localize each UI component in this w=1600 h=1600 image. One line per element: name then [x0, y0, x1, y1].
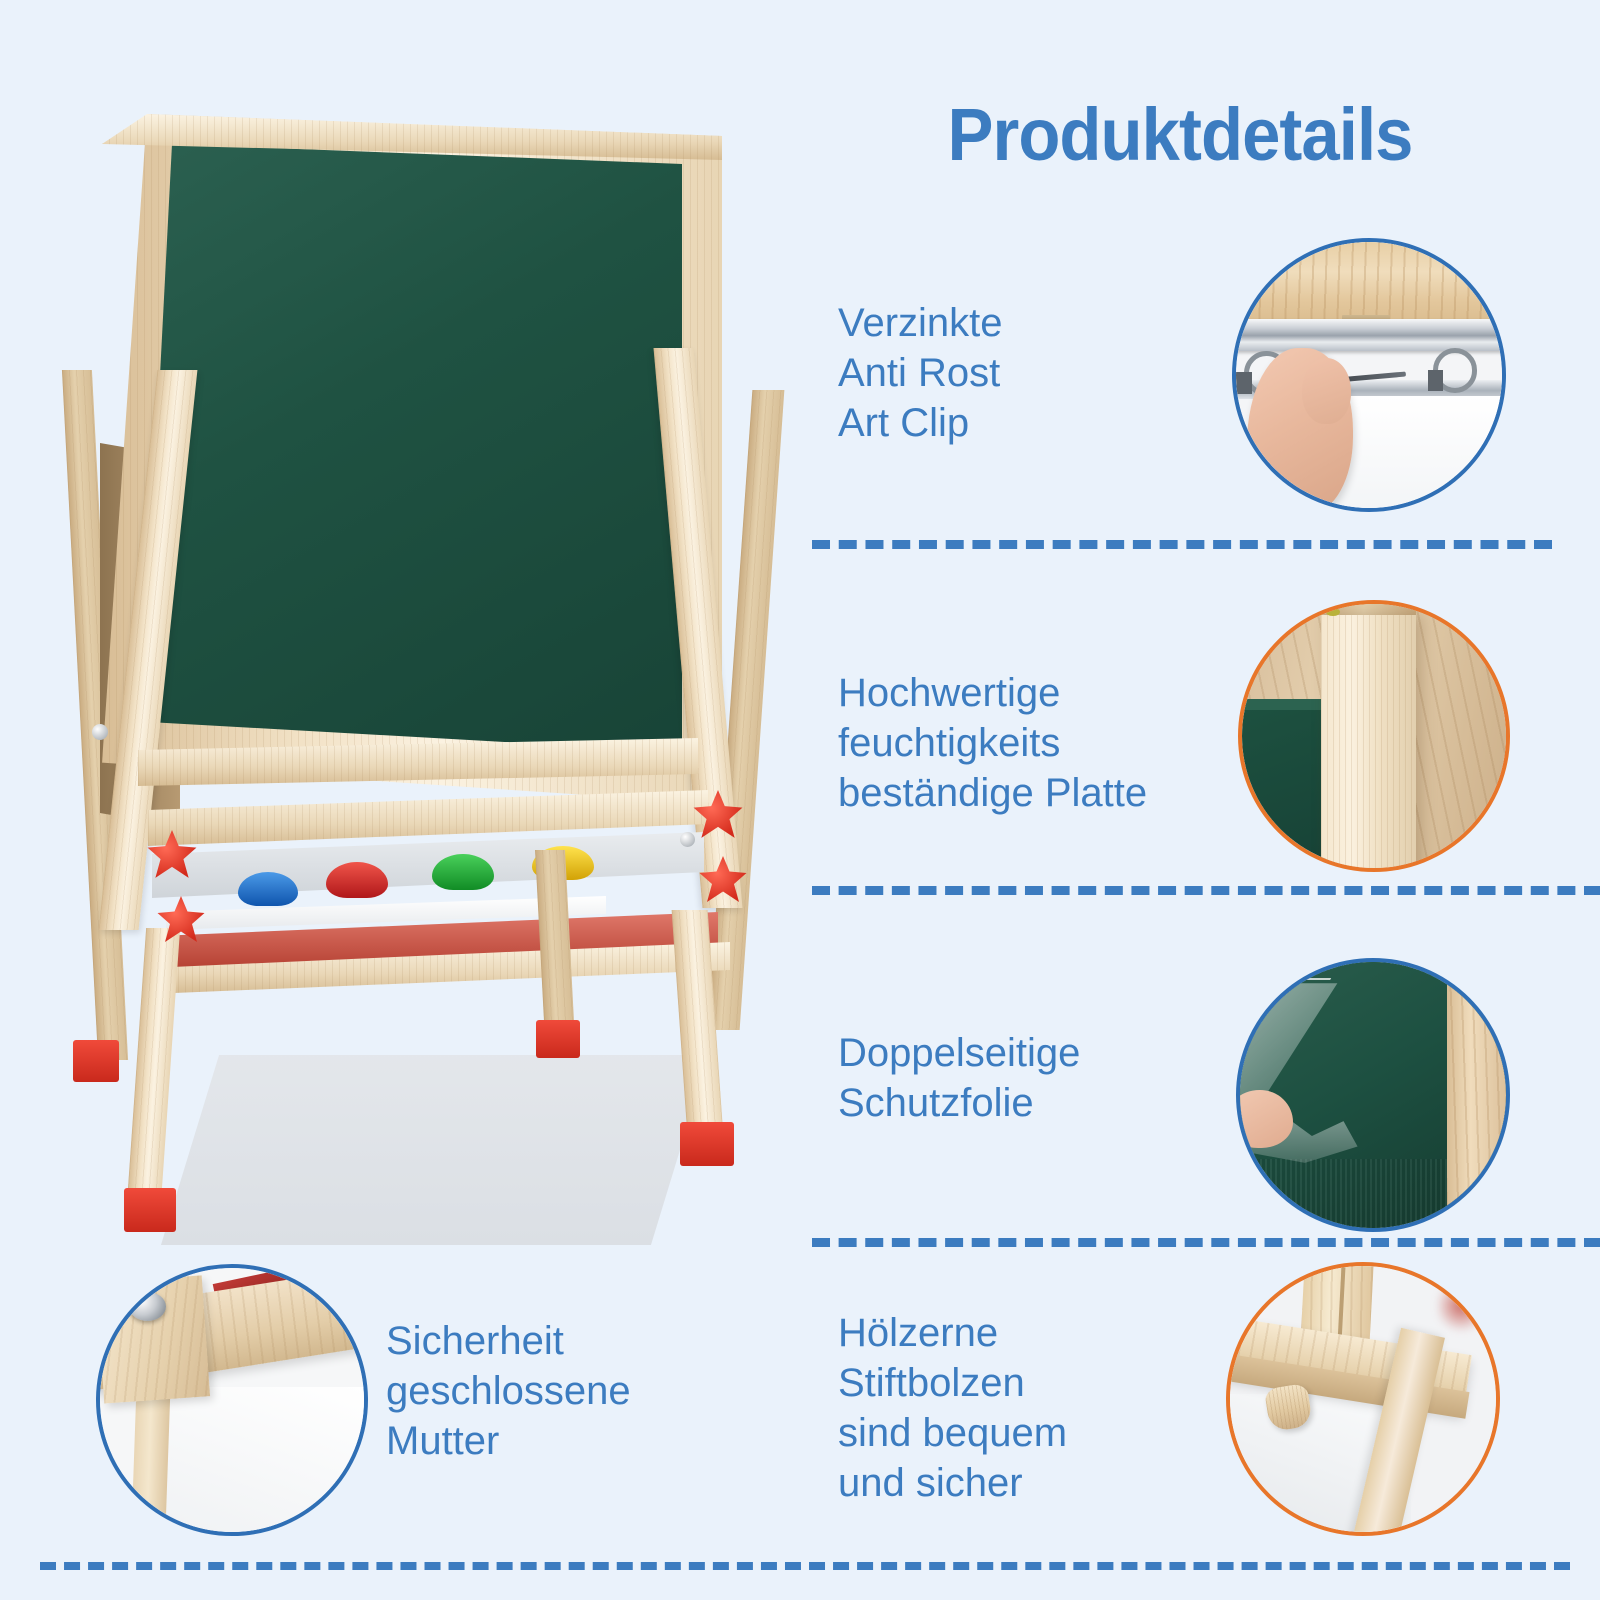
- cap-nut-photo: [100, 1268, 364, 1532]
- feature-image-art-clip: [1232, 238, 1506, 512]
- paint-cup-green: [432, 854, 494, 890]
- feature-label-dowel-pins: Hölzerne Stiftbolzen sind bequem und sic…: [838, 1308, 1218, 1508]
- product-details-infographic: Produktdetails Verzinkte Anti Rost Art C…: [0, 0, 1600, 1600]
- divider-1: [812, 540, 1552, 549]
- paint-cup-blue: [238, 872, 298, 906]
- easel-foot-front-right: [680, 1122, 734, 1166]
- dowel-pin-photo: [1230, 1266, 1496, 1532]
- feature-image-protective-film: [1236, 958, 1510, 1232]
- easel-screw-right: [680, 832, 695, 847]
- feature-label-protective-film: Doppelseitige Schutzfolie: [838, 1028, 1218, 1128]
- feature-image-cap-nut: [96, 1264, 368, 1536]
- divider-2: [812, 886, 1600, 895]
- product-hero-image: [40, 90, 800, 1210]
- feature-label-art-clip: Verzinkte Anti Rost Art Clip: [838, 298, 1218, 448]
- easel-foot-front-left: [124, 1188, 176, 1232]
- divider-bottom: [40, 1562, 1570, 1570]
- feature-image-board-edge: [1238, 600, 1510, 872]
- feature-label-cap-nut: Sicherheit geschlossene Mutter: [386, 1316, 786, 1466]
- easel-foot-rear-left: [73, 1040, 119, 1082]
- page-title: Produktdetails: [827, 92, 1534, 177]
- chalkboard-surface: [142, 144, 682, 752]
- board-edge-photo: [1242, 604, 1506, 868]
- feature-image-dowel-pin: [1226, 1262, 1500, 1536]
- protective-film-photo: [1240, 962, 1506, 1228]
- floor-shadow: [161, 1055, 709, 1245]
- feature-label-moisture-board: Hochwertige feuchtigkeits beständige Pla…: [838, 668, 1238, 818]
- easel-screw-left: [92, 724, 108, 740]
- paint-cup-red: [326, 862, 388, 898]
- divider-3: [812, 1238, 1600, 1247]
- art-clip-photo: [1236, 242, 1502, 508]
- easel-foot-mid: [536, 1020, 580, 1058]
- easel-front-leg-left: [126, 928, 180, 1218]
